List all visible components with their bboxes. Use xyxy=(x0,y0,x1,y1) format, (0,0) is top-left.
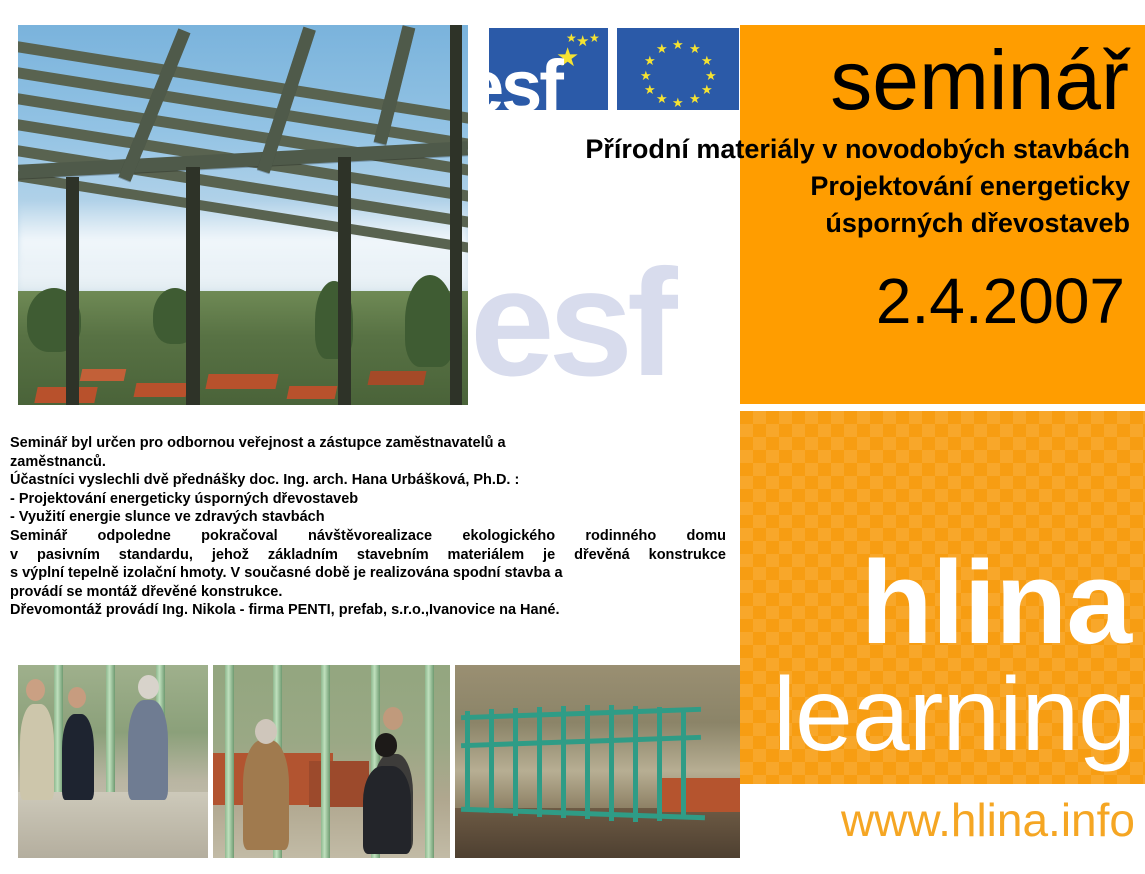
body-text: Seminář byl určen pro odbornou veřejnost… xyxy=(10,434,726,620)
frame-stud xyxy=(489,709,494,813)
person-head xyxy=(138,675,159,699)
person-figure xyxy=(128,700,168,800)
tree-clump xyxy=(405,275,455,367)
subtitle-line-3: úsporných dřevostaveb xyxy=(500,205,1130,242)
body-line: Seminář byl určen pro odbornou veřejnost… xyxy=(10,434,726,453)
frame-stud xyxy=(681,709,686,819)
scaffold-post xyxy=(321,665,330,858)
frame-stud xyxy=(465,711,470,811)
subtitle-block: Přírodní materiály v novodobých stavbách… xyxy=(500,131,1130,242)
body-line: zaměstnanců. xyxy=(10,453,726,472)
pergola-photo xyxy=(18,25,468,405)
person-figure xyxy=(243,740,289,850)
learning-wordmark: learning xyxy=(740,663,1135,767)
body-line: Účastníci vyslechli dvě přednášky doc. I… xyxy=(10,471,726,490)
red-roof xyxy=(309,761,369,807)
hlina-wordmark: hlina xyxy=(740,551,1131,655)
subtitle-line-1: Přírodní materiály v novodobých stavbách xyxy=(500,131,1130,168)
esf-logo: ★ ★ ★ ★ esf xyxy=(489,28,608,110)
frame-stud xyxy=(633,706,638,822)
people-photo-1 xyxy=(18,665,208,858)
frame-stud xyxy=(537,707,542,817)
body-line: - Projektování energeticky úsporných dře… xyxy=(10,490,726,509)
people-photo-2 xyxy=(213,665,450,858)
page-title: seminář xyxy=(740,37,1129,123)
person-head xyxy=(68,687,86,708)
scaffold-post xyxy=(425,665,434,858)
person-head xyxy=(375,733,397,757)
poster-root: ★ ★ ★ ★ esf ★ ★ ★ ★ ★ ★ ★ ★ ★ ★ ★ ★ esf … xyxy=(0,0,1145,874)
person-head xyxy=(26,679,45,701)
frame-stud xyxy=(585,705,590,819)
person-figure xyxy=(20,704,54,800)
esf-logo-text: esf xyxy=(489,50,561,110)
hlina-learning-logo-panel: hlina learning xyxy=(740,411,1145,784)
person-head xyxy=(383,707,403,730)
paragraph-line: s výplní tepelně izolační hmoty. V souča… xyxy=(10,564,726,583)
deck-floor xyxy=(18,792,208,858)
frame-stud xyxy=(561,706,566,818)
pergola-post xyxy=(186,167,200,405)
paragraph-line: v pasivním standardu, jehož základním st… xyxy=(10,546,726,565)
pergola-post xyxy=(450,25,462,405)
subtitle-line-2: Projektování energeticky xyxy=(500,168,1130,205)
person-figure xyxy=(62,714,94,800)
event-date: 2.4.2007 xyxy=(740,268,1125,334)
scaffold-post xyxy=(225,665,234,858)
frame-stud xyxy=(513,708,518,816)
paragraph-line: provádí se montáž dřevěné konstrukce. xyxy=(10,583,726,602)
frame-stud xyxy=(657,707,662,821)
closing-line: Dřevomontáž provádí Ing. Nikola - firma … xyxy=(10,601,726,620)
european-union-flag-icon: ★ ★ ★ ★ ★ ★ ★ ★ ★ ★ ★ ★ xyxy=(617,28,739,110)
pergola-post xyxy=(66,177,79,405)
person-figure xyxy=(363,766,411,854)
website-url[interactable]: www.hlina.info xyxy=(740,795,1135,845)
pergola-post xyxy=(338,157,351,405)
body-line: - Využití energie slunce ve zdravých sta… xyxy=(10,508,726,527)
paragraph-line: Seminář odpoledne pokračoval návštěvorea… xyxy=(10,527,726,546)
person-head xyxy=(255,719,277,744)
frame-stud xyxy=(609,705,614,821)
red-roof xyxy=(662,778,740,812)
frame-photo xyxy=(455,665,740,858)
rooftops-layer xyxy=(18,337,468,405)
esf-watermark: esf xyxy=(470,248,740,408)
